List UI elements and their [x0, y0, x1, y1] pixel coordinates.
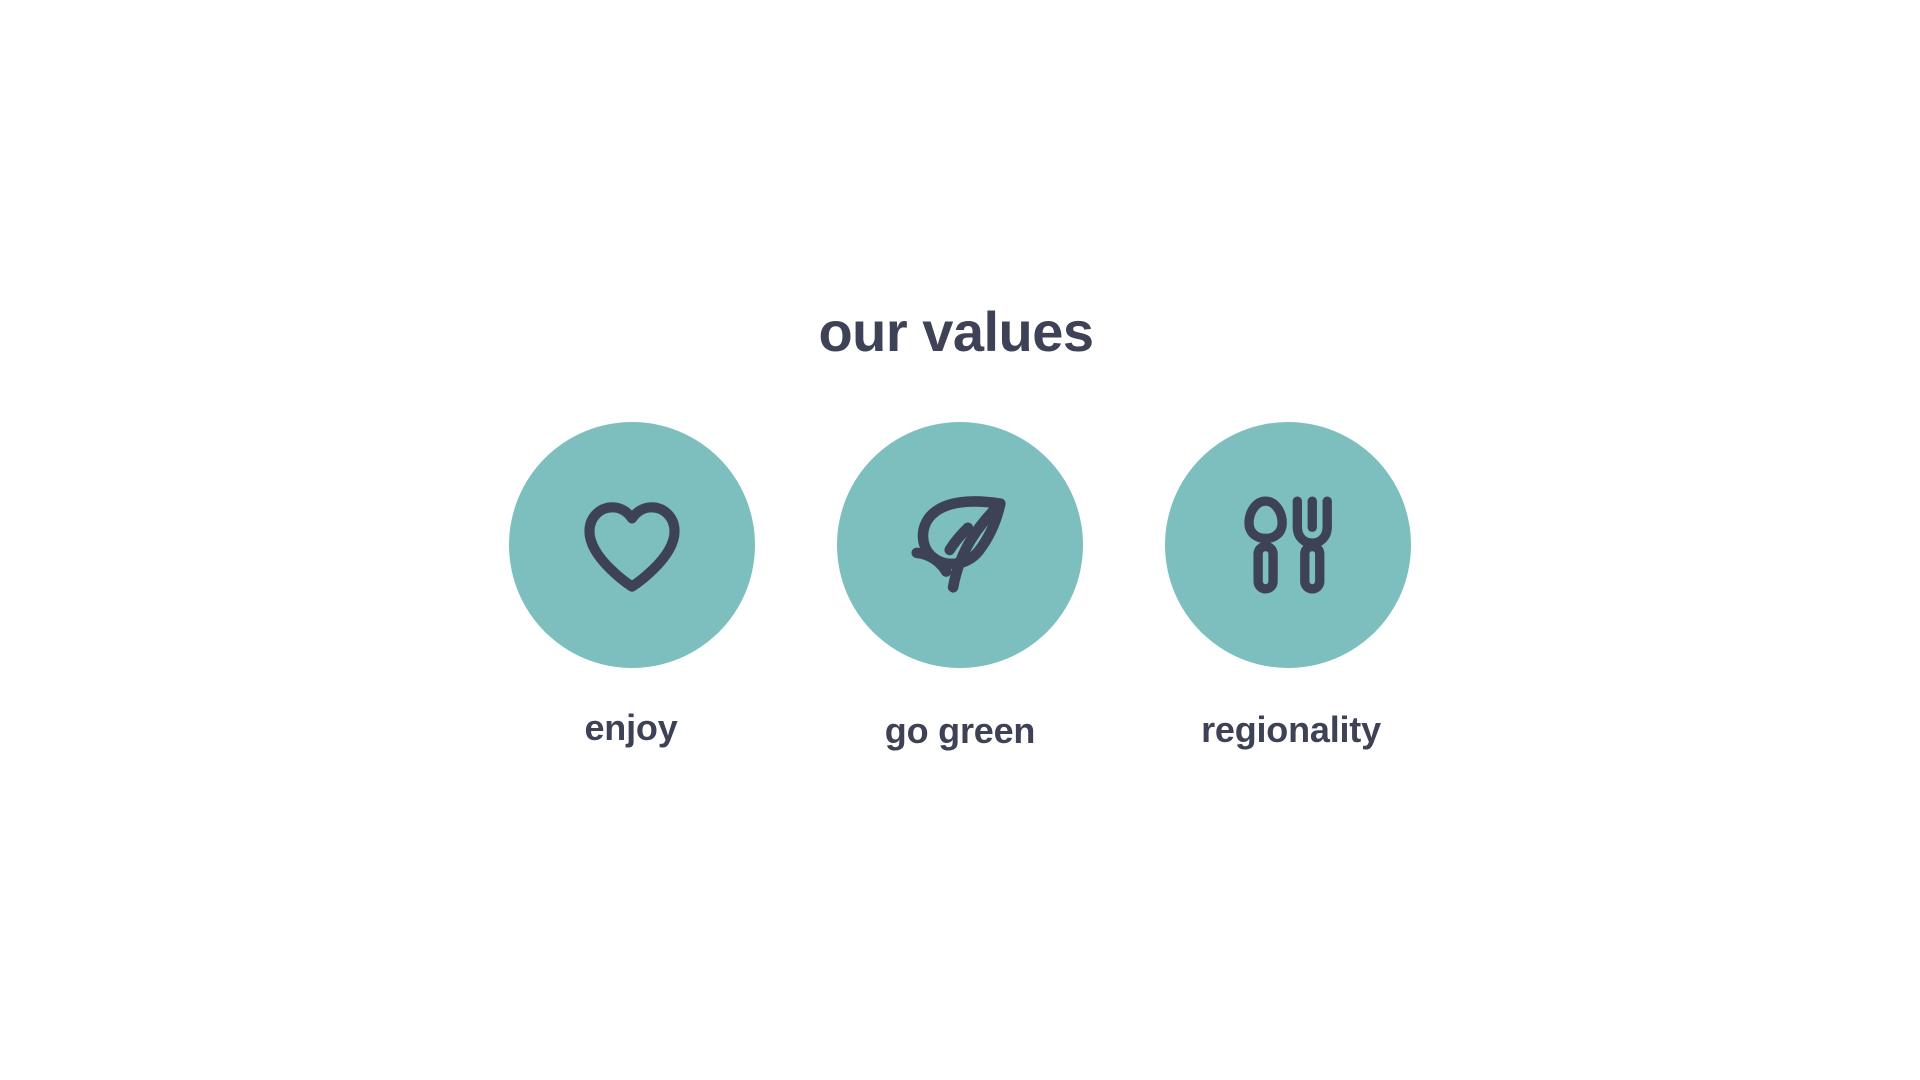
value-icon-badge	[1165, 422, 1411, 668]
page-title: our values	[0, 304, 1916, 360]
value-item-enjoy[interactable]: enjoy	[509, 422, 755, 750]
heart-icon	[574, 487, 690, 603]
value-label: go green	[885, 713, 1035, 749]
leaf-icon	[901, 486, 1019, 604]
value-item-regionality[interactable]: regionality	[1165, 422, 1411, 750]
values-list: enjoy go green	[509, 422, 1411, 750]
cutlery-icon	[1232, 489, 1344, 601]
value-label: enjoy	[584, 710, 677, 746]
value-icon-badge	[837, 422, 1083, 668]
value-label: regionality	[1201, 712, 1381, 748]
our-values-section: our values enjoy	[0, 0, 1920, 1080]
value-icon-badge	[509, 422, 755, 668]
value-item-go-green[interactable]: go green	[837, 422, 1083, 750]
